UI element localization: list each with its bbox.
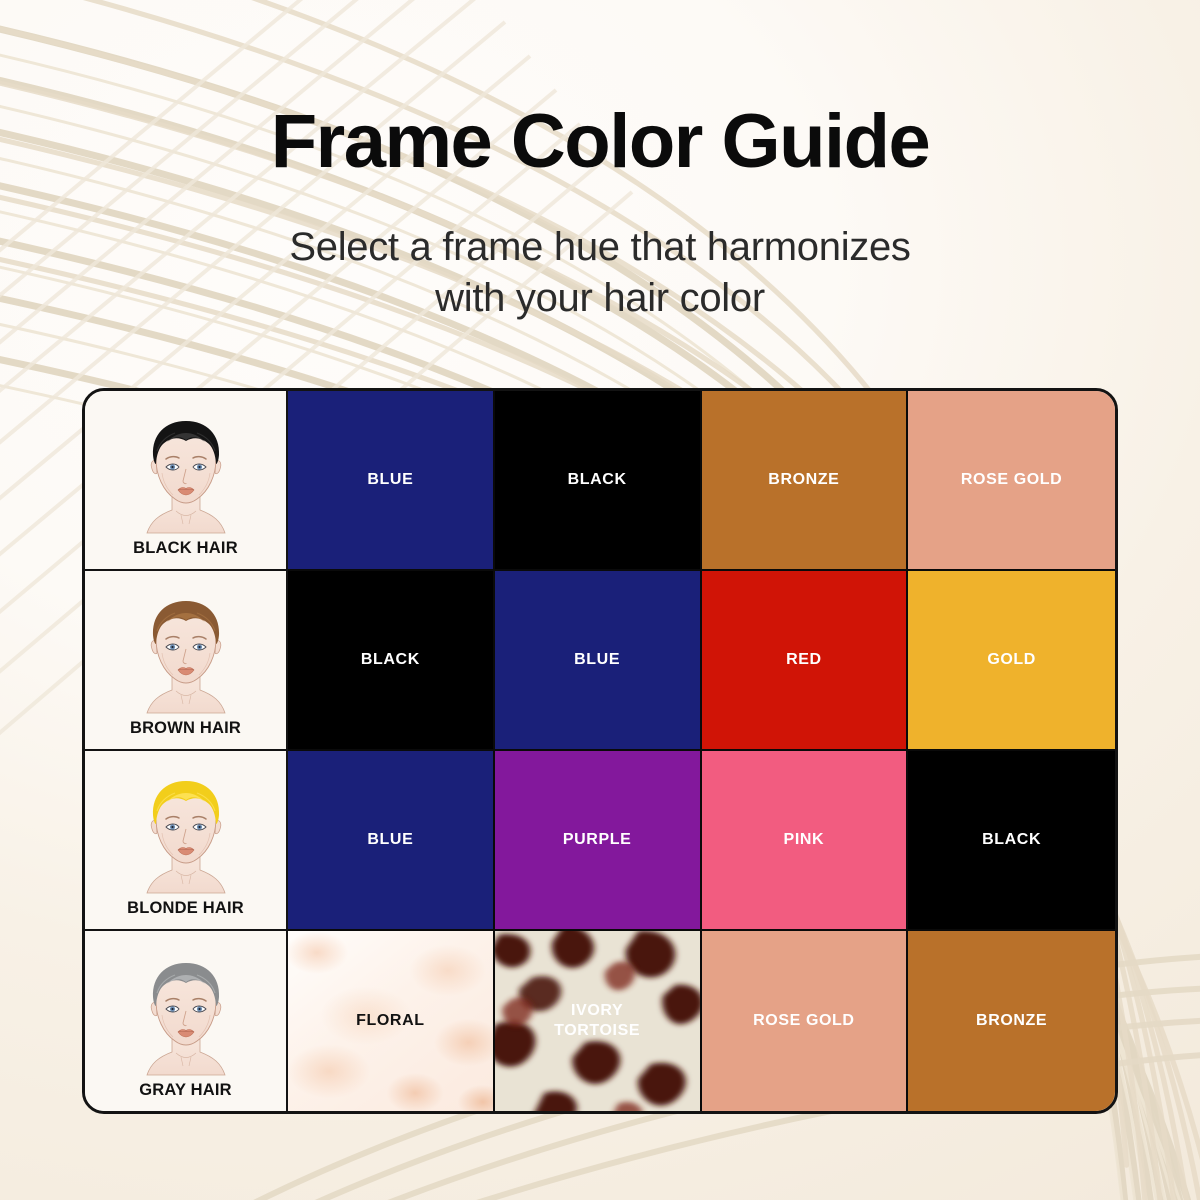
subtitle-line-1: Select a frame hue that harmonizes	[0, 222, 1200, 273]
page-title: Frame Color Guide	[0, 104, 1200, 180]
color-swatch-pink[interactable]: PINK	[702, 751, 909, 931]
face-illustration	[121, 591, 251, 716]
color-swatch-red[interactable]: RED	[702, 571, 909, 751]
color-swatch-label: BRONZE	[976, 1011, 1047, 1031]
hair-type-cell-black-hair: BLACK HAIR	[85, 391, 288, 571]
color-swatch-label: BLACK	[361, 650, 420, 670]
color-swatch-label: BLUE	[574, 650, 620, 670]
hair-type-label: BLONDE HAIR	[127, 899, 244, 918]
color-swatch-rose-gold[interactable]: ROSE GOLD	[908, 391, 1115, 571]
page-header: Frame Color Guide Select a frame hue tha…	[0, 0, 1200, 324]
color-swatch-bronze[interactable]: BRONZE	[702, 391, 909, 571]
hair-type-label: BROWN HAIR	[130, 719, 241, 738]
face-illustration	[121, 771, 251, 896]
color-swatch-gold[interactable]: GOLD	[908, 571, 1115, 751]
color-swatch-label: BLUE	[367, 830, 413, 850]
page-subtitle: Select a frame hue that harmonizes with …	[0, 222, 1200, 324]
hair-type-label: GRAY HAIR	[139, 1081, 232, 1100]
color-swatch-label: BLACK	[568, 470, 627, 490]
hair-type-cell-gray-hair: GRAY HAIR	[85, 931, 288, 1111]
subtitle-line-2: with your hair color	[0, 273, 1200, 324]
frame-color-guide-table: BLACK HAIRBLUEBLACKBRONZEROSE GOLD BROWN…	[82, 388, 1118, 1114]
color-swatch-blue[interactable]: BLUE	[288, 391, 495, 571]
color-swatch-label: IVORYTORTOISE	[554, 1001, 640, 1040]
color-swatch-blue[interactable]: BLUE	[288, 751, 495, 931]
hair-type-label: BLACK HAIR	[133, 539, 238, 558]
hair-type-cell-blonde-hair: BLONDE HAIR	[85, 751, 288, 931]
color-swatch-label: ROSE GOLD	[753, 1011, 854, 1031]
color-grid: BLACK HAIRBLUEBLACKBRONZEROSE GOLD BROWN…	[85, 391, 1115, 1111]
color-swatch-blue[interactable]: BLUE	[495, 571, 702, 751]
color-swatch-purple[interactable]: PURPLE	[495, 751, 702, 931]
color-swatch-floral[interactable]: FLORAL	[288, 931, 495, 1111]
color-swatch-label: FLORAL	[356, 1011, 424, 1031]
color-swatch-label: PINK	[784, 830, 825, 850]
hair-type-cell-brown-hair: BROWN HAIR	[85, 571, 288, 751]
color-swatch-label: GOLD	[987, 650, 1036, 670]
color-swatch-label: PURPLE	[563, 830, 632, 850]
color-swatch-bronze[interactable]: BRONZE	[908, 931, 1115, 1111]
color-swatch-label: ROSE GOLD	[961, 470, 1062, 490]
color-swatch-black[interactable]: BLACK	[495, 391, 702, 571]
color-swatch-black[interactable]: BLACK	[288, 571, 495, 751]
color-swatch-label: BRONZE	[768, 470, 839, 490]
color-swatch-ivory-tortoise[interactable]: IVORYTORTOISE	[495, 931, 702, 1111]
color-swatch-rose-gold[interactable]: ROSE GOLD	[702, 931, 909, 1111]
face-illustration	[121, 953, 251, 1078]
color-swatch-label: RED	[786, 650, 822, 670]
color-swatch-label: BLUE	[367, 470, 413, 490]
color-swatch-black[interactable]: BLACK	[908, 751, 1115, 931]
color-swatch-label: BLACK	[982, 830, 1041, 850]
face-illustration	[121, 411, 251, 536]
